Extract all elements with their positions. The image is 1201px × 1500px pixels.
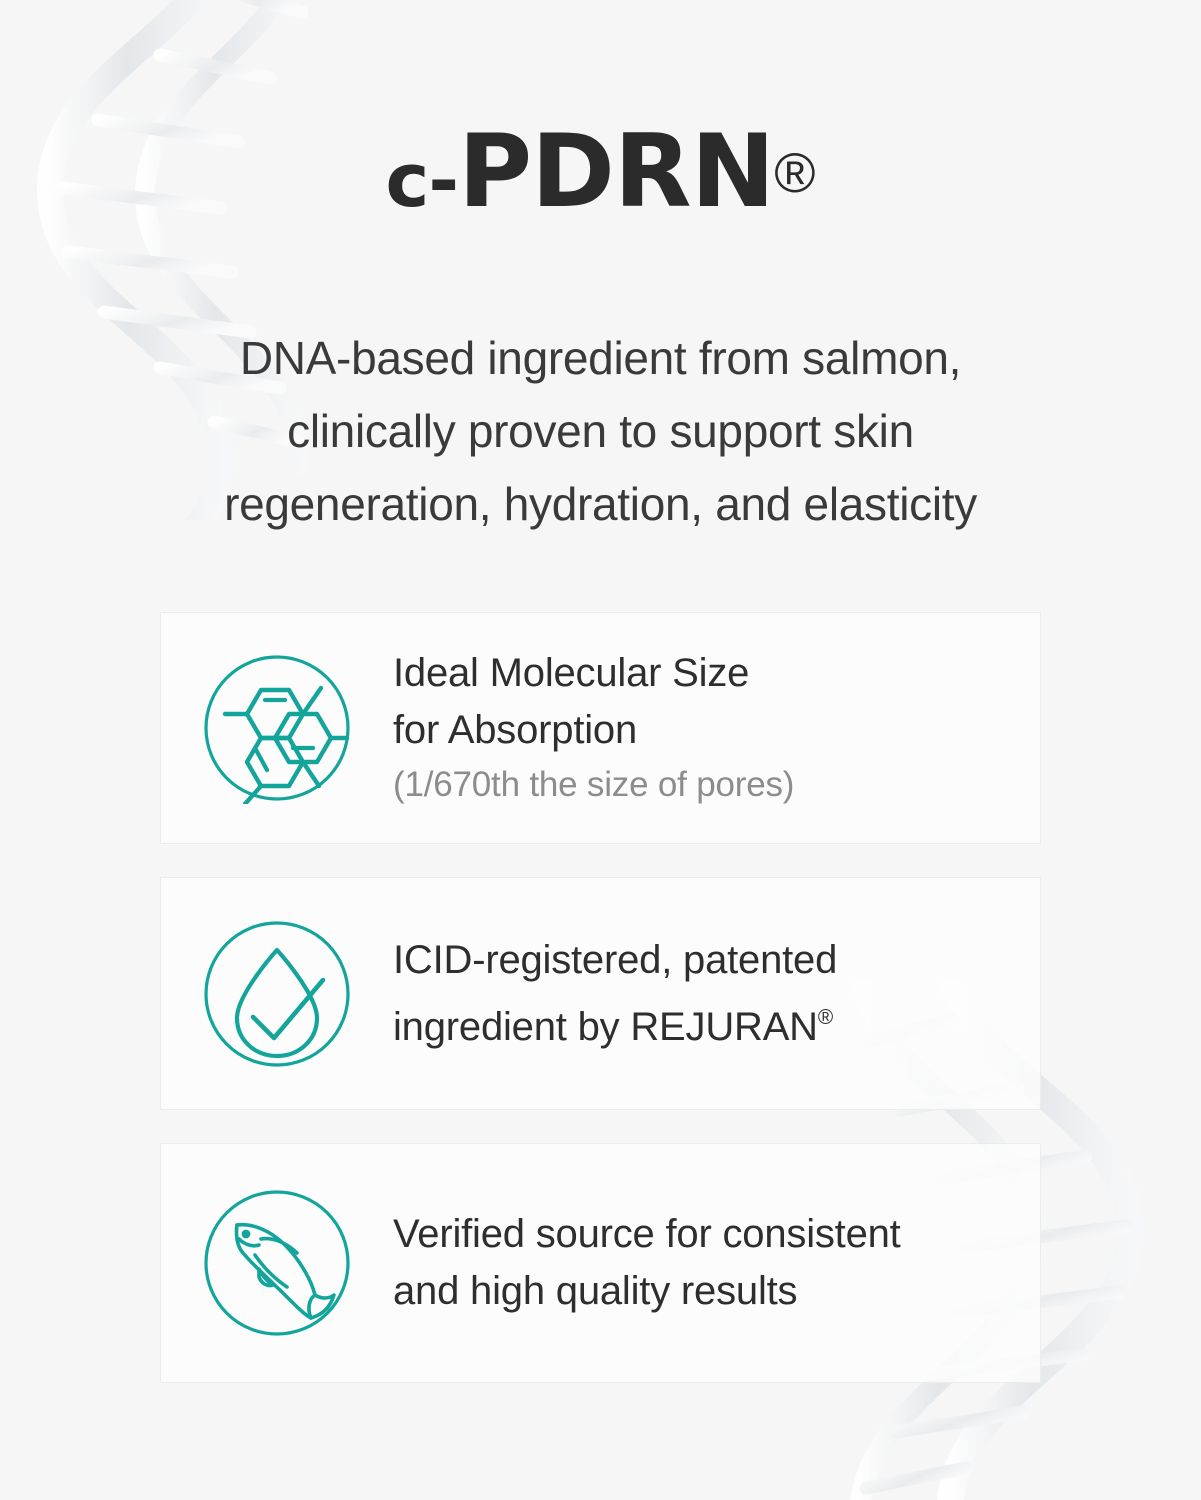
feature-2-line-2-text: ingredient by REJURAN bbox=[393, 1005, 818, 1049]
molecule-icon bbox=[161, 652, 393, 804]
feature-3-line-1: Verified source for consistent bbox=[393, 1206, 901, 1263]
title-prefix: c- bbox=[385, 138, 458, 224]
product-infographic: c-PDRN® DNA-based ingredient from salmon… bbox=[0, 0, 1201, 1500]
feature-card-icid-registered: ICID-registered, patented ingredient by … bbox=[160, 877, 1041, 1110]
subtitle-line-3: regeneration, hydration, and elasticity bbox=[0, 468, 1201, 541]
feature-2-line-1: ICID-registered, patented bbox=[393, 932, 837, 989]
title-main: PDRN bbox=[458, 112, 774, 230]
feature-card-molecular-size: Ideal Molecular Size for Absorption (1/6… bbox=[160, 612, 1041, 844]
registered-mark: ® bbox=[774, 141, 815, 204]
feature-1-line-2: for Absorption bbox=[393, 702, 794, 759]
feature-card-2-text: ICID-registered, patented ingredient by … bbox=[393, 932, 863, 1056]
feature-card-1-text: Ideal Molecular Size for Absorption (1/6… bbox=[393, 645, 820, 811]
water-drop-check-icon bbox=[161, 918, 393, 1070]
feature-3-line-2: and high quality results bbox=[393, 1263, 901, 1320]
feature-card-verified-source: Verified source for consistent and high … bbox=[160, 1143, 1041, 1383]
rejuran-registered-mark: ® bbox=[818, 1006, 833, 1029]
feature-2-line-2: ingredient by REJURAN® bbox=[393, 989, 837, 1056]
feature-1-line-1: Ideal Molecular Size bbox=[393, 645, 794, 702]
feature-card-3-text: Verified source for consistent and high … bbox=[393, 1206, 927, 1320]
subtitle: DNA-based ingredient from salmon, clinic… bbox=[0, 322, 1201, 541]
subtitle-line-1: DNA-based ingredient from salmon, bbox=[0, 322, 1201, 395]
page-title: c-PDRN® bbox=[0, 112, 1201, 230]
fish-icon bbox=[161, 1187, 393, 1339]
feature-1-subtext: (1/670th the size of pores) bbox=[393, 759, 794, 811]
subtitle-line-2: clinically proven to support skin bbox=[0, 395, 1201, 468]
